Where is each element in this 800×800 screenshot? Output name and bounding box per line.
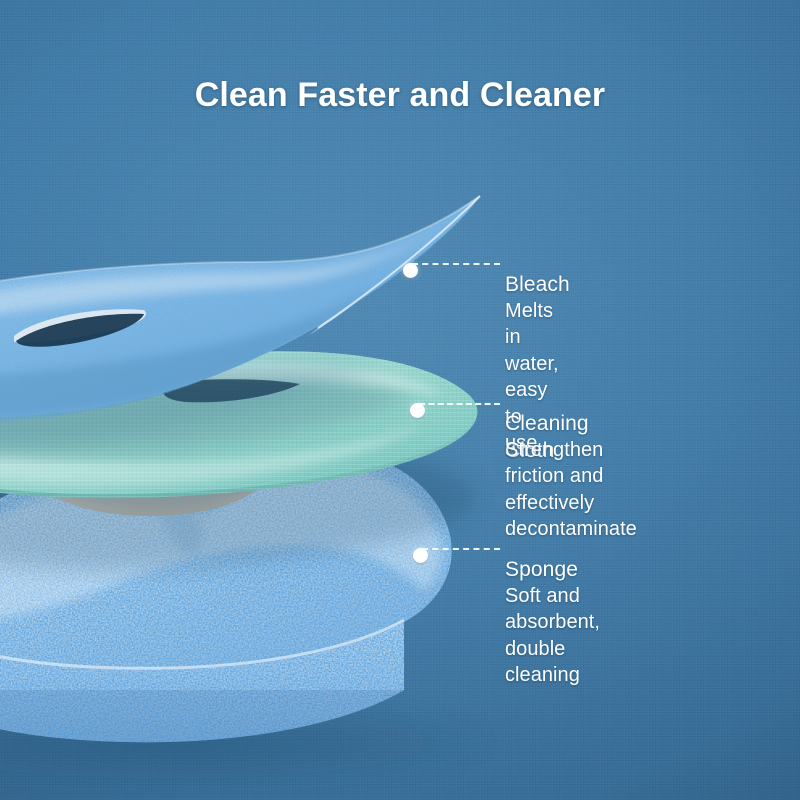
callout-description: Strengthen friction and effectively deco… — [505, 437, 637, 543]
page-title: Clean Faster and Cleaner — [0, 76, 800, 115]
callout-leader-line — [419, 403, 500, 405]
callout-title: Sponge — [505, 556, 578, 583]
dot-marker-icon — [403, 263, 418, 278]
callout-leader-line — [422, 548, 500, 550]
product-infographic: Clean Faster and Cleaner Bleach Melts in… — [0, 0, 800, 800]
dot-marker-icon — [410, 403, 425, 418]
callout-description: Soft and absorbent, double cleaning — [505, 583, 600, 689]
callout-title: Bleach — [505, 271, 570, 298]
callout-leader-line — [412, 263, 500, 265]
dot-marker-icon — [413, 548, 428, 563]
product-illustration — [0, 0, 800, 800]
